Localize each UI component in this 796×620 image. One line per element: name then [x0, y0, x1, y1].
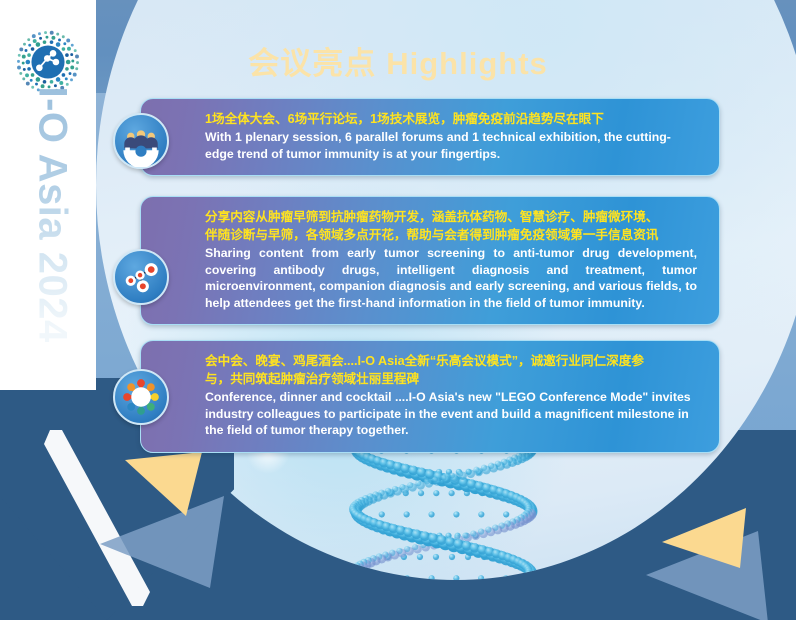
highlight-2-cn-line2: 伴随诊断与早筛，各领域多点开花，帮助与会者得到肿瘤免疫领域第一手信息资讯 — [205, 227, 697, 244]
triangle-cream-left — [120, 446, 220, 526]
highlight-card-3[interactable]: 会中会、晚宴、鸡尾酒会....I-O Asia全新“乐高会议模式”，诚邀行业同仁… — [140, 340, 720, 453]
highlight-1-cn: 1场全体大会、6场平行论坛，1场技术展览，肿瘤免疫前沿趋势尽在眼下 — [205, 111, 697, 128]
highlight-3-cn-line1: 会中会、晚宴、鸡尾酒会....I-O Asia全新“乐高会议模式”，诚邀行业同仁… — [205, 353, 697, 370]
highlight-card-1[interactable]: 1场全体大会、6场平行论坛，1场技术展览，肿瘤免疫前沿趋势尽在眼下 With 1… — [140, 98, 720, 176]
highlight-card-2[interactable]: 分享内容从肿瘤早筛到抗肿瘤药物开发，涵盖抗体药物、智慧诊疗、肿瘤微环境、 伴随诊… — [140, 196, 720, 325]
vertical-brand-title: I-O Asia 2024 — [30, 87, 75, 355]
highlight-2-cn-line1: 分享内容从肿瘤早筛到抗肿瘤药物开发，涵盖抗体药物、智慧诊疗、肿瘤微环境、 — [205, 209, 697, 226]
highlight-1-en: With 1 plenary session, 6 parallel forum… — [205, 129, 697, 162]
page-title-cn: 会议亮点 — [248, 46, 376, 81]
page-title-en: Highlights — [386, 46, 548, 81]
virus-cell-icon — [113, 369, 169, 425]
highlight-3-cn-line2: 与，共同筑起肿瘤治疗领域壮丽里程碑 — [205, 371, 697, 388]
highlight-3-en: Conference, dinner and cocktail ....I-O … — [205, 389, 697, 439]
slide-canvas: I-O Asia 2024 会议亮点Highlights — [0, 0, 796, 620]
page-title: 会议亮点Highlights — [0, 38, 796, 83]
people-gear-icon — [113, 113, 169, 169]
highlight-2-en: Sharing content from early tumor screeni… — [205, 245, 697, 311]
molecule-nodes-icon — [113, 249, 169, 305]
triangle-cream-right — [658, 498, 758, 578]
